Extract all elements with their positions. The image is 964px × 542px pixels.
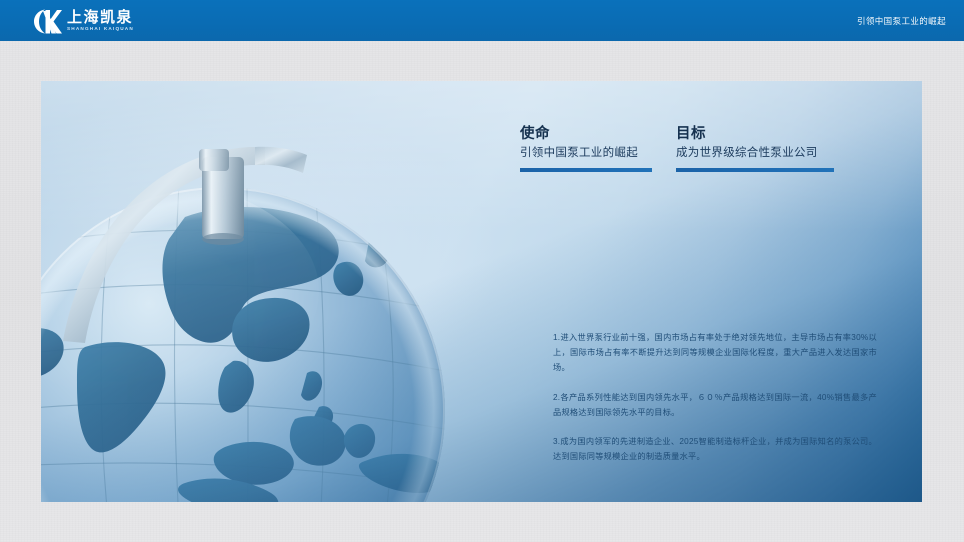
brand-logo[interactable]: 上海凯泉 SHANGHAI KAIQUAN xyxy=(33,6,133,36)
brand-name-cn: 上海凯泉 xyxy=(67,10,133,25)
globe-illustration xyxy=(41,161,509,502)
globe-icon xyxy=(41,161,509,502)
body-paragraphs: 1.进入世界泵行业前十强，国内市场占有率处于绝对领先地位，主导市场占有率30%以… xyxy=(553,330,877,464)
paragraph-3: 3.成为国内领军的先进制造企业、2025智能制造标杆企业，并成为国际知名的泵公司… xyxy=(553,434,877,464)
goal-subtitle: 成为世界级综合性泵业公司 xyxy=(676,146,876,162)
heading-block-goal: 目标 成为世界级综合性泵业公司 xyxy=(676,125,876,172)
globe-meridian-arc-icon xyxy=(59,91,399,351)
brand-name-en: SHANGHAI KAIQUAN xyxy=(67,27,134,32)
goal-title: 目标 xyxy=(676,125,876,143)
mission-underline xyxy=(520,168,652,172)
heading-block-mission: 使命 引领中国泵工业的崛起 xyxy=(520,125,676,172)
globe-meridian-arc xyxy=(59,91,399,351)
brand-text: 上海凯泉 SHANGHAI KAIQUAN xyxy=(67,10,133,32)
mission-title: 使命 xyxy=(520,125,676,143)
goal-underline xyxy=(676,168,834,172)
slide-content: 使命 引领中国泵工业的崛起 目标 成为世界级综合性泵业公司 1.进入世界泵行业前… xyxy=(520,125,900,470)
paragraph-2: 2.各产品系列性能达到国内领先水平，６０％产品规格达到国际一流，40%销售最多产… xyxy=(553,390,877,420)
headings-row: 使命 引领中国泵工业的崛起 目标 成为世界级综合性泵业公司 xyxy=(520,125,900,193)
topbar-tagline: 引领中国泵工业的崛起 xyxy=(857,0,946,41)
mission-subtitle: 引领中国泵工业的崛起 xyxy=(520,146,676,162)
paragraph-1: 1.进入世界泵行业前十强，国内市场占有率处于绝对领先地位，主导市场占有率30%以… xyxy=(553,330,877,376)
slide-canvas: 使命 引领中国泵工业的崛起 目标 成为世界级综合性泵业公司 1.进入世界泵行业前… xyxy=(41,81,922,502)
page-root: 上海凯泉 SHANGHAI KAIQUAN 引领中国泵工业的崛起 xyxy=(0,0,964,542)
kaiquan-k-monogram-icon xyxy=(33,8,62,35)
app-top-bar: 上海凯泉 SHANGHAI KAIQUAN 引领中国泵工业的崛起 xyxy=(0,0,964,41)
